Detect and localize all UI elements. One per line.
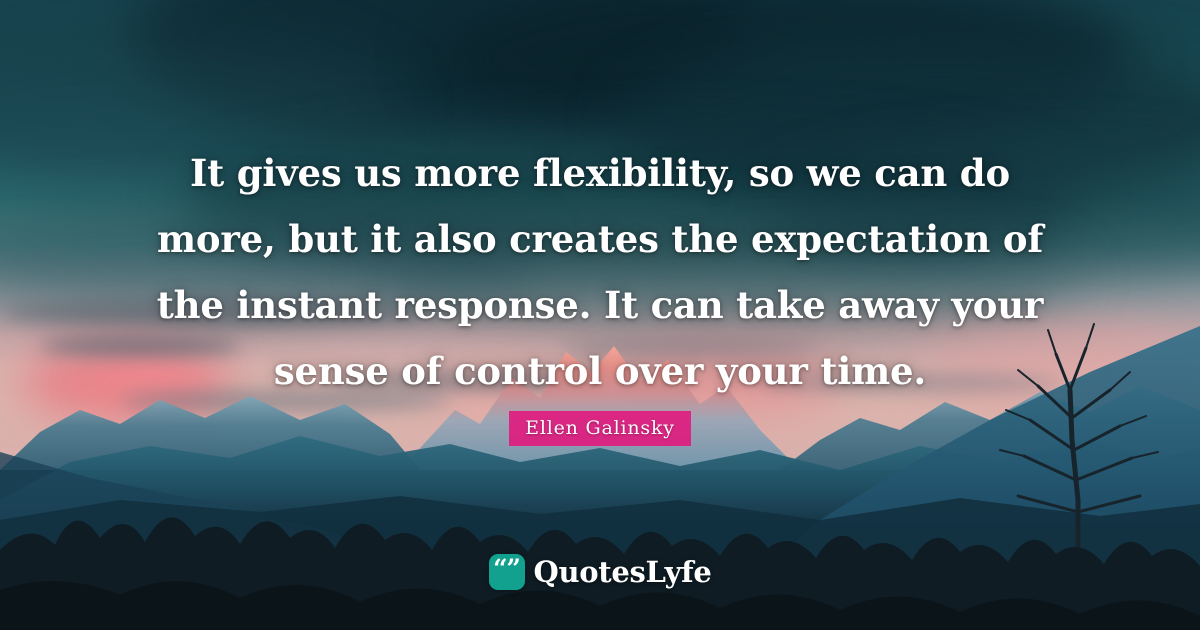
quote-line: more, but it also creates the expectatio…	[0, 206, 1200, 272]
quote-line: the instant response. It can take away y…	[0, 272, 1200, 338]
quote-line: sense of control over your time.	[0, 338, 1200, 404]
site-logo[interactable]: “” QuotesLyfe	[0, 554, 1200, 590]
quote-mark-glyph: “”	[489, 554, 525, 590]
quote-line: It gives us more flexibility, so we can …	[0, 140, 1200, 206]
quote-card: It gives us more flexibility, so we can …	[0, 0, 1200, 630]
site-name: QuotesLyfe	[534, 555, 712, 589]
author-name-badge[interactable]: Ellen Galinsky	[509, 411, 691, 446]
quote-mark-icon: “”	[489, 554, 525, 590]
author-attribution: Ellen Galinsky	[0, 411, 1200, 446]
quote-text-block: It gives us more flexibility, so we can …	[0, 140, 1200, 404]
foreground-foliage	[0, 430, 1200, 630]
